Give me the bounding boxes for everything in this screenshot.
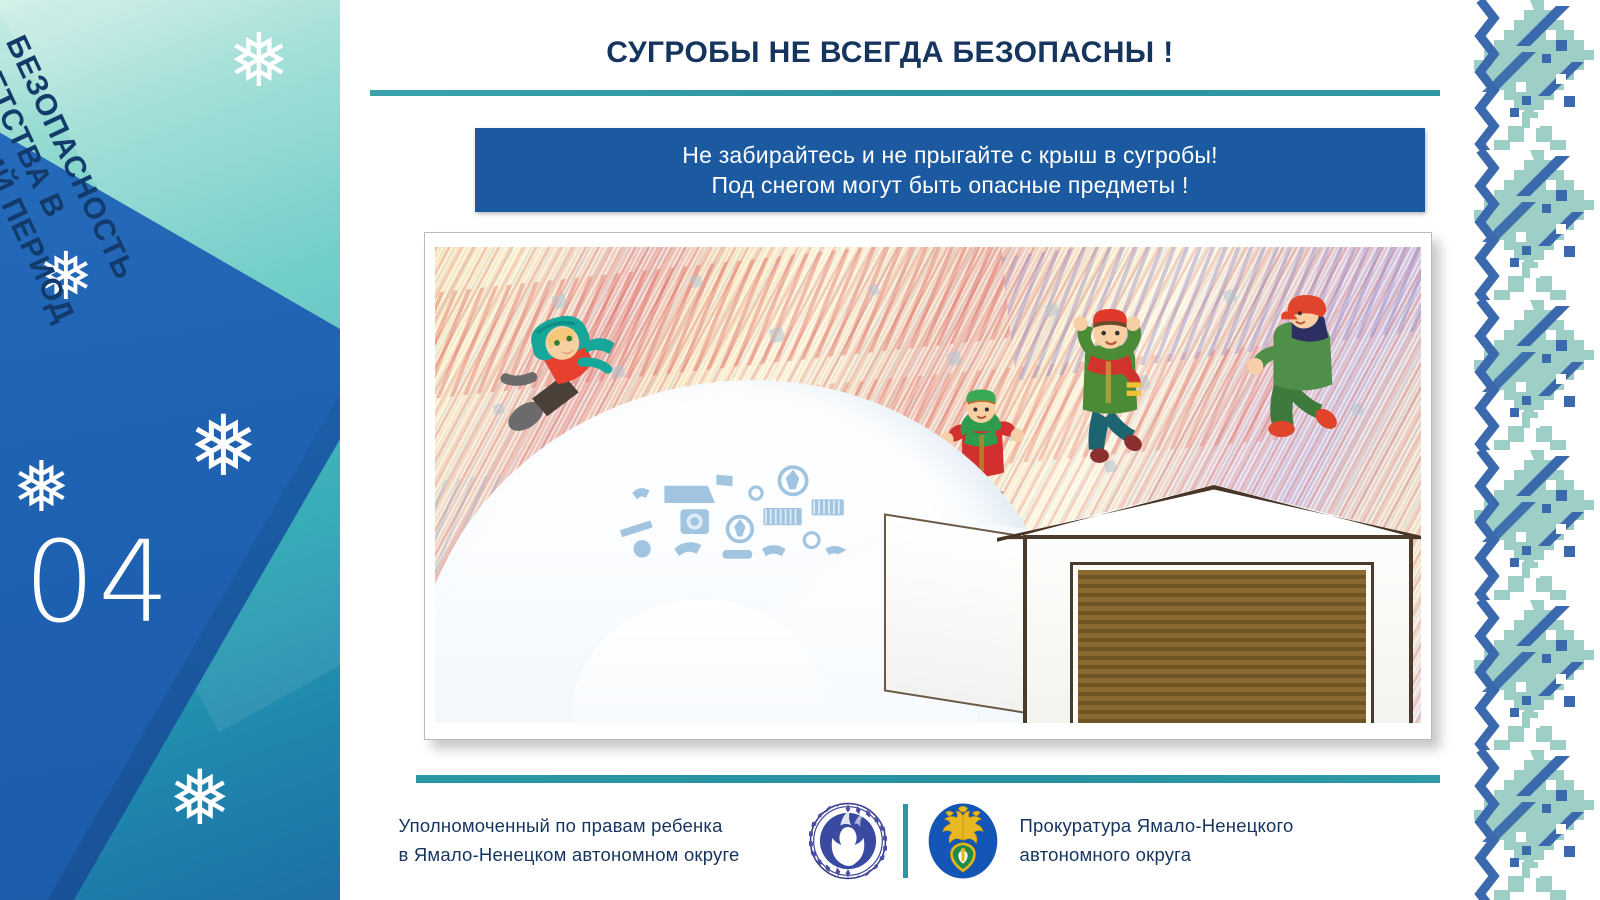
garage-building xyxy=(997,485,1421,723)
snowflake-icon: ❅ xyxy=(12,452,71,522)
prosecutor-text-line-2: автономного округа xyxy=(1020,841,1402,870)
page-title: СУГРОБЫ НЕ ВСЕГДА БЕЗОПАСНЫ ! xyxy=(340,36,1440,70)
prosecutor-emblem-icon xyxy=(924,802,1002,880)
garage-side-wall xyxy=(884,513,1032,715)
left-cover-panel: ❅ ❅ ❅ ❅ ❅ БЕЗОПАСНОСТЬ ДЕТСТВА В ЗИМНИЙ … xyxy=(0,0,340,900)
ombudsman-text: Уполномоченный по правам ребенка в Ямало… xyxy=(399,812,809,869)
illustration-frame xyxy=(424,232,1432,740)
footer: Уполномоченный по правам ребенка в Ямало… xyxy=(340,786,1460,896)
garage-roller-door xyxy=(1073,565,1371,723)
ombudsman-text-line-1: Уполномоченный по правам ребенка xyxy=(399,812,795,841)
garage-roof xyxy=(997,485,1421,539)
child-on-roof xyxy=(1224,295,1382,447)
child-jumping-boy xyxy=(1036,309,1184,466)
prosecutor-text-line-1: Прокуратура Ямало-Ненецкого xyxy=(1020,812,1402,841)
nenets-ornament-border xyxy=(1460,0,1600,900)
snowflake-icon: ❅ xyxy=(168,760,232,836)
slide-number: 04 xyxy=(24,527,173,639)
ombudsman-emblem-icon xyxy=(809,802,887,880)
prosecutor-text: Прокуратура Ямало-Ненецкого автономного … xyxy=(1002,812,1402,869)
garage-front-wall xyxy=(1023,535,1413,724)
ombudsman-text-line-2: в Ямало-Ненецком автономном округе xyxy=(399,841,795,870)
title-divider-rule xyxy=(370,90,1440,96)
warning-message-line-2: Под снегом могут быть опасные предметы ! xyxy=(711,170,1188,200)
main-content: СУГРОБЫ НЕ ВСЕГДА БЕЗОПАСНЫ ! Не забирай… xyxy=(340,0,1460,900)
warning-message-box: Не забирайтесь и не прыгайте с крыш в су… xyxy=(475,128,1425,212)
warning-message-line-1: Не забирайтесь и не прыгайте с крыш в су… xyxy=(682,140,1217,170)
footer-vertical-divider xyxy=(903,804,908,878)
footer-divider-rule xyxy=(416,775,1440,783)
illustration-image xyxy=(435,247,1421,723)
snowflake-icon: ❅ xyxy=(228,24,290,98)
snowflake-icon: ❅ xyxy=(38,244,93,310)
snowflake-icon: ❅ xyxy=(188,404,258,488)
